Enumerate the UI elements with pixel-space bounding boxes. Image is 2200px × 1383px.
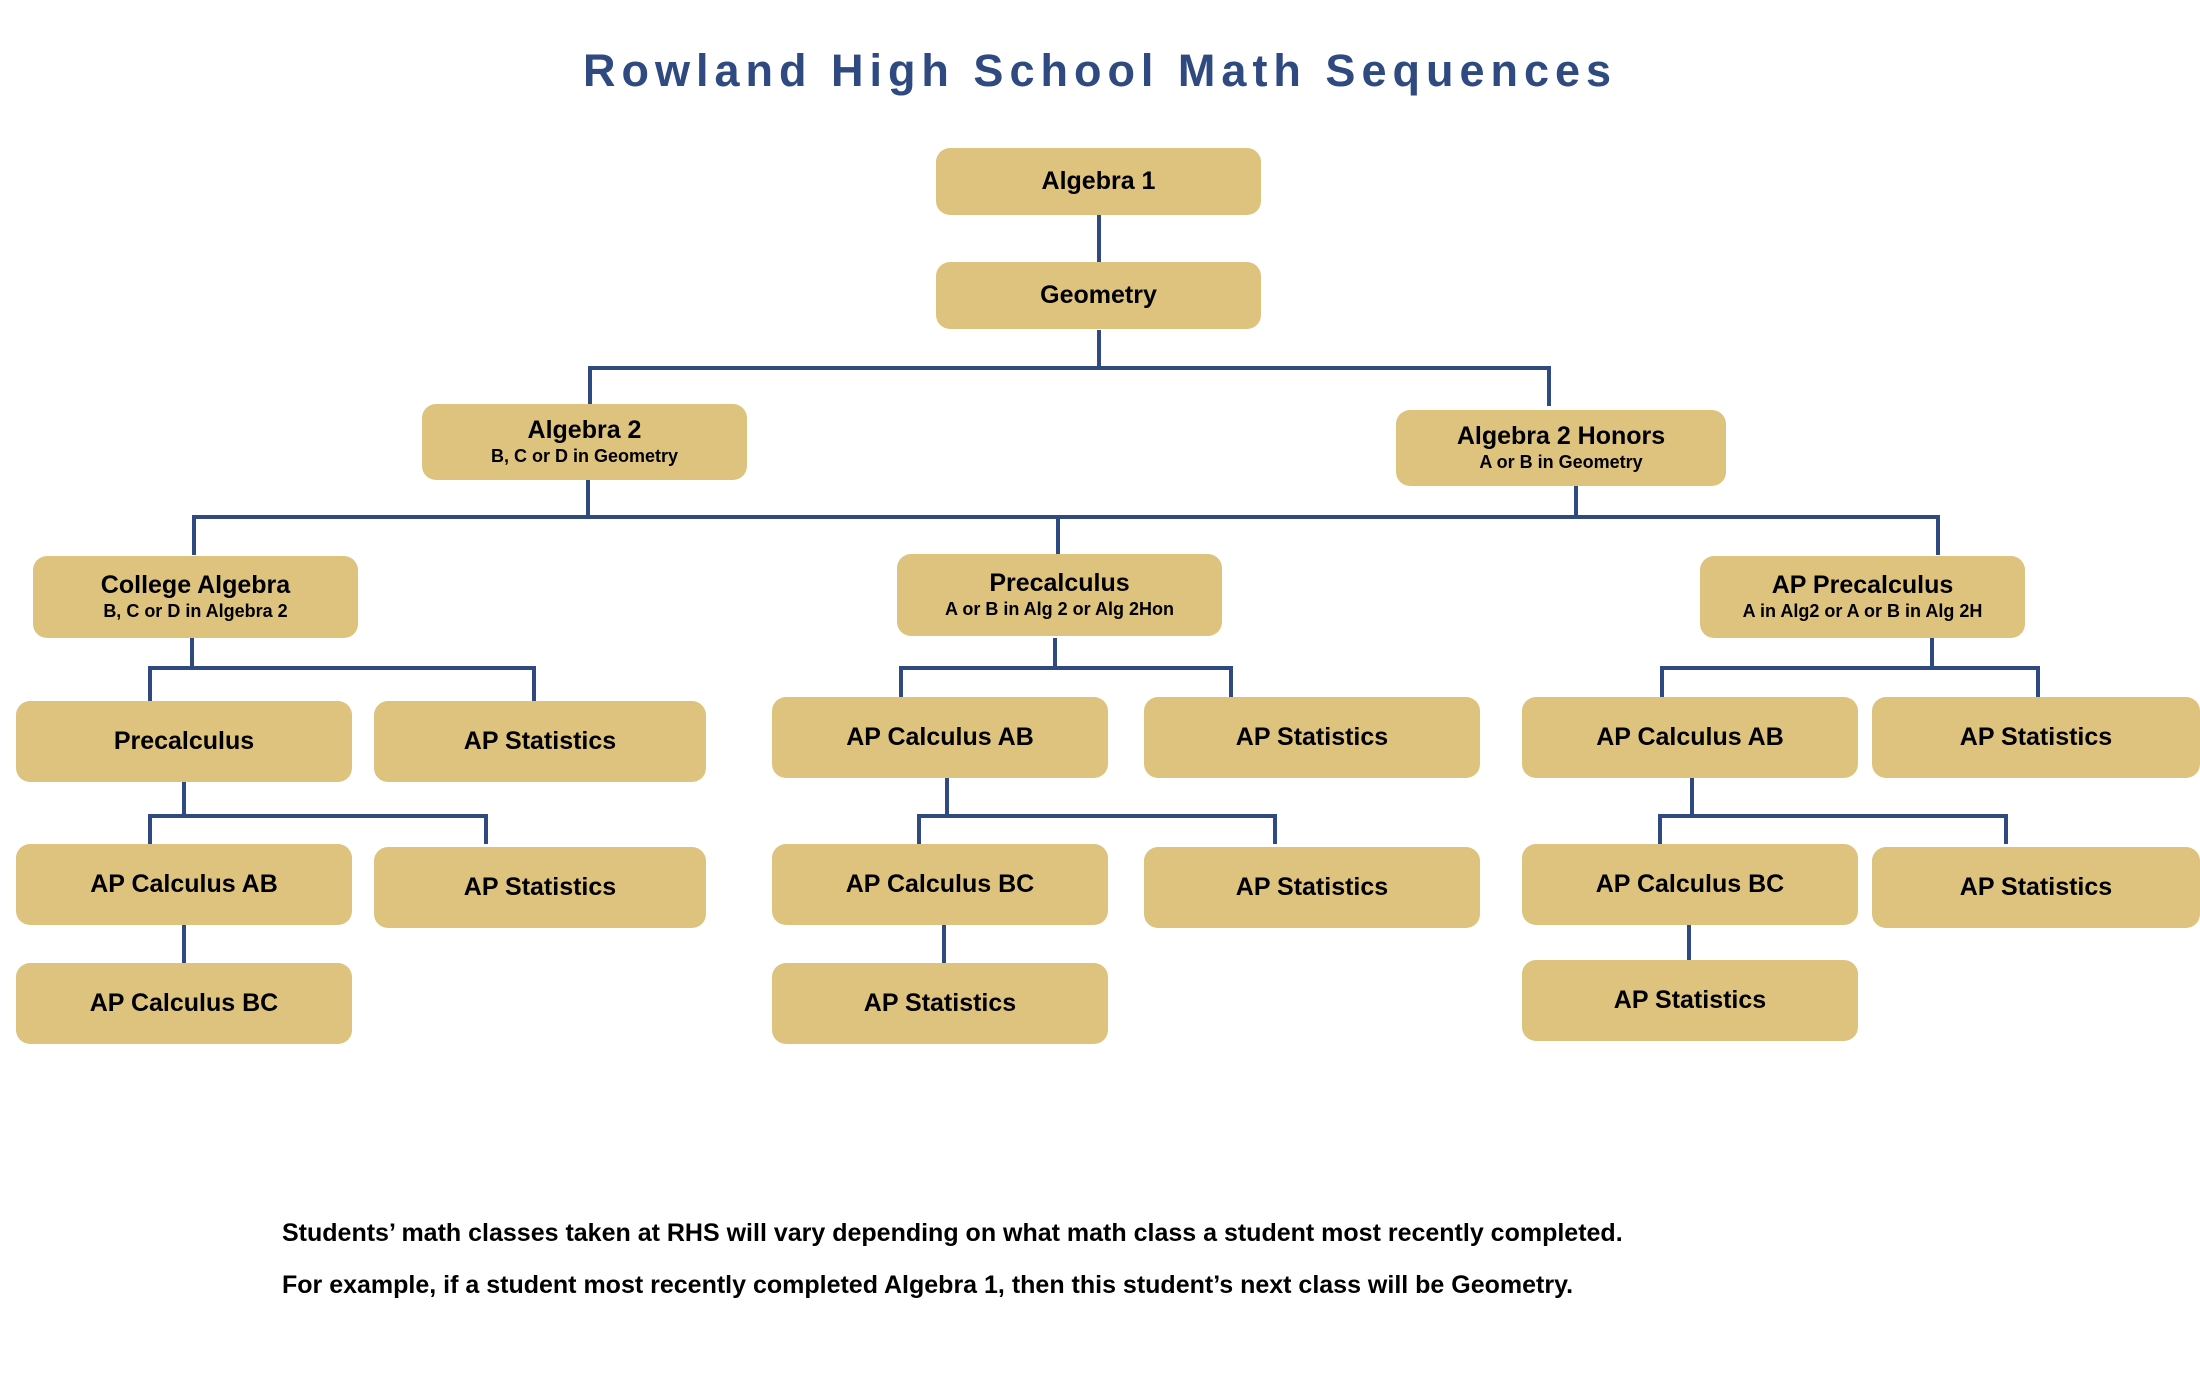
connector-algebra2honors-drop: [1574, 485, 1578, 515]
connector-row2-bar: [588, 366, 1551, 370]
node-right-ap-calculus-bc[interactable]: AP Calculus BC: [1522, 844, 1858, 925]
footer-line-2: For example, if a student most recently …: [282, 1272, 1982, 1300]
connector-right-row4-bar: [1660, 666, 2040, 670]
node-label: Precalculus: [114, 728, 254, 754]
node-geometry[interactable]: Geometry: [936, 262, 1261, 329]
node-label: AP Calculus AB: [90, 871, 278, 897]
connector-left-bar-apstats2: [484, 814, 488, 844]
connector-right-bar-apstats: [2036, 666, 2040, 701]
node-label: AP Precalculus: [1772, 572, 1954, 598]
connector-collegealgebra-drop: [190, 638, 194, 666]
node-label: AP Statistics: [1960, 724, 2112, 750]
node-algebra-2-honors[interactable]: Algebra 2 Honors A or B in Geometry: [1396, 410, 1726, 486]
node-label: AP Statistics: [1236, 724, 1388, 750]
connector-row3-bar: [192, 515, 1940, 519]
node-prerequisite: A in Alg2 or A or B in Alg 2H: [1743, 602, 1983, 622]
connector-mid-row4-bar: [899, 666, 1233, 670]
node-mid-ap-calculus-bc[interactable]: AP Calculus BC: [772, 844, 1108, 925]
node-label: Algebra 1: [1042, 168, 1156, 194]
node-prerequisite: B, C or D in Geometry: [491, 447, 678, 467]
math-sequence-flowchart: Rowland High School Math Sequences: [0, 0, 2200, 1383]
node-left-ap-calculus-bc[interactable]: AP Calculus BC: [16, 963, 352, 1044]
node-algebra-2[interactable]: Algebra 2 B, C or D in Geometry: [422, 404, 747, 480]
node-algebra-1[interactable]: Algebra 1: [936, 148, 1261, 215]
footer-note: Students’ math classes taken at RHS will…: [282, 1220, 1982, 1323]
connector-geometry-drop: [1097, 330, 1101, 366]
node-label: AP Calculus BC: [846, 871, 1034, 897]
connector-right-apcalcab-drop: [1690, 778, 1694, 814]
connector-left-bar-apstats: [532, 666, 536, 701]
node-right-ap-calculus-ab[interactable]: AP Calculus AB: [1522, 697, 1858, 778]
node-left-ap-statistics-1[interactable]: AP Statistics: [374, 701, 706, 782]
node-left-precalculus[interactable]: Precalculus: [16, 701, 352, 782]
connector-left-precalculus-drop: [182, 782, 186, 814]
connector-algebra2-drop: [586, 480, 590, 515]
node-label: AP Calculus AB: [1596, 724, 1784, 750]
node-mid-ap-statistics-3[interactable]: AP Statistics: [772, 963, 1108, 1044]
node-label: AP Statistics: [864, 990, 1016, 1016]
node-label: AP Statistics: [464, 874, 616, 900]
node-label: AP Statistics: [464, 728, 616, 754]
node-mid-ap-statistics-2[interactable]: AP Statistics: [1144, 847, 1480, 928]
connector-mid-bar-apcalcbc: [917, 814, 921, 844]
connector-left-bar-precalculus: [148, 666, 152, 701]
node-label: AP Calculus BC: [90, 990, 278, 1016]
node-prerequisite: A or B in Alg 2 or Alg 2Hon: [945, 600, 1174, 620]
connector-bar-algebra2: [588, 366, 592, 406]
connector-bar-algebra2honors: [1547, 366, 1551, 406]
node-label: AP Calculus BC: [1596, 871, 1784, 897]
connector-bar-precalculus: [1056, 515, 1060, 555]
node-ap-precalculus[interactable]: AP Precalculus A in Alg2 or A or B in Al…: [1700, 556, 2025, 638]
node-prerequisite: B, C or D in Algebra 2: [103, 602, 287, 622]
connector-mid-bar-apstats2: [1273, 814, 1277, 844]
node-label: AP Statistics: [1236, 874, 1388, 900]
footer-line-1: Students’ math classes taken at RHS will…: [282, 1220, 1982, 1248]
node-right-ap-statistics-3[interactable]: AP Statistics: [1522, 960, 1858, 1041]
node-label: AP Calculus AB: [846, 724, 1034, 750]
node-college-algebra[interactable]: College Algebra B, C or D in Algebra 2: [33, 556, 358, 638]
connector-bar-apprecalculus: [1936, 515, 1940, 555]
connector-bar-collegealgebra: [192, 515, 196, 555]
connector-algebra1-geometry: [1097, 215, 1101, 265]
node-prerequisite: A or B in Geometry: [1479, 453, 1642, 473]
node-label: AP Statistics: [1614, 987, 1766, 1013]
node-mid-ap-statistics-1[interactable]: AP Statistics: [1144, 697, 1480, 778]
node-right-ap-statistics-1[interactable]: AP Statistics: [1872, 697, 2200, 778]
node-precalculus[interactable]: Precalculus A or B in Alg 2 or Alg 2Hon: [897, 554, 1222, 636]
node-label: Geometry: [1040, 282, 1157, 308]
node-left-ap-statistics-2[interactable]: AP Statistics: [374, 847, 706, 928]
node-label: AP Statistics: [1960, 874, 2112, 900]
connector-right-bar-apcalcab: [1660, 666, 1664, 701]
connector-right-bar-apstats2: [2004, 814, 2008, 844]
connector-left-bar-apcalcab: [148, 814, 152, 844]
connector-mid-row5-bar: [917, 814, 1277, 818]
page-title: Rowland High School Math Sequences: [0, 45, 2200, 97]
node-mid-ap-calculus-ab[interactable]: AP Calculus AB: [772, 697, 1108, 778]
connector-right-row5-bar: [1658, 814, 2008, 818]
node-label: College Algebra: [101, 572, 290, 598]
connector-left-row5-bar: [148, 814, 488, 818]
node-label: Precalculus: [989, 570, 1129, 596]
connector-right-apprecalculus-drop: [1930, 638, 1934, 666]
connector-left-row4-bar: [148, 666, 536, 670]
node-label: Algebra 2 Honors: [1457, 423, 1665, 449]
connector-right-bar-apcalcbc: [1658, 814, 1662, 844]
node-label: Algebra 2: [528, 417, 642, 443]
node-right-ap-statistics-2[interactable]: AP Statistics: [1872, 847, 2200, 928]
connector-mid-apcalcab-drop: [945, 778, 949, 814]
connector-mid-precalculus-drop: [1053, 638, 1057, 666]
connector-mid-bar-apstats: [1229, 666, 1233, 701]
node-left-ap-calculus-ab[interactable]: AP Calculus AB: [16, 844, 352, 925]
connector-mid-bar-apcalcab: [899, 666, 903, 701]
